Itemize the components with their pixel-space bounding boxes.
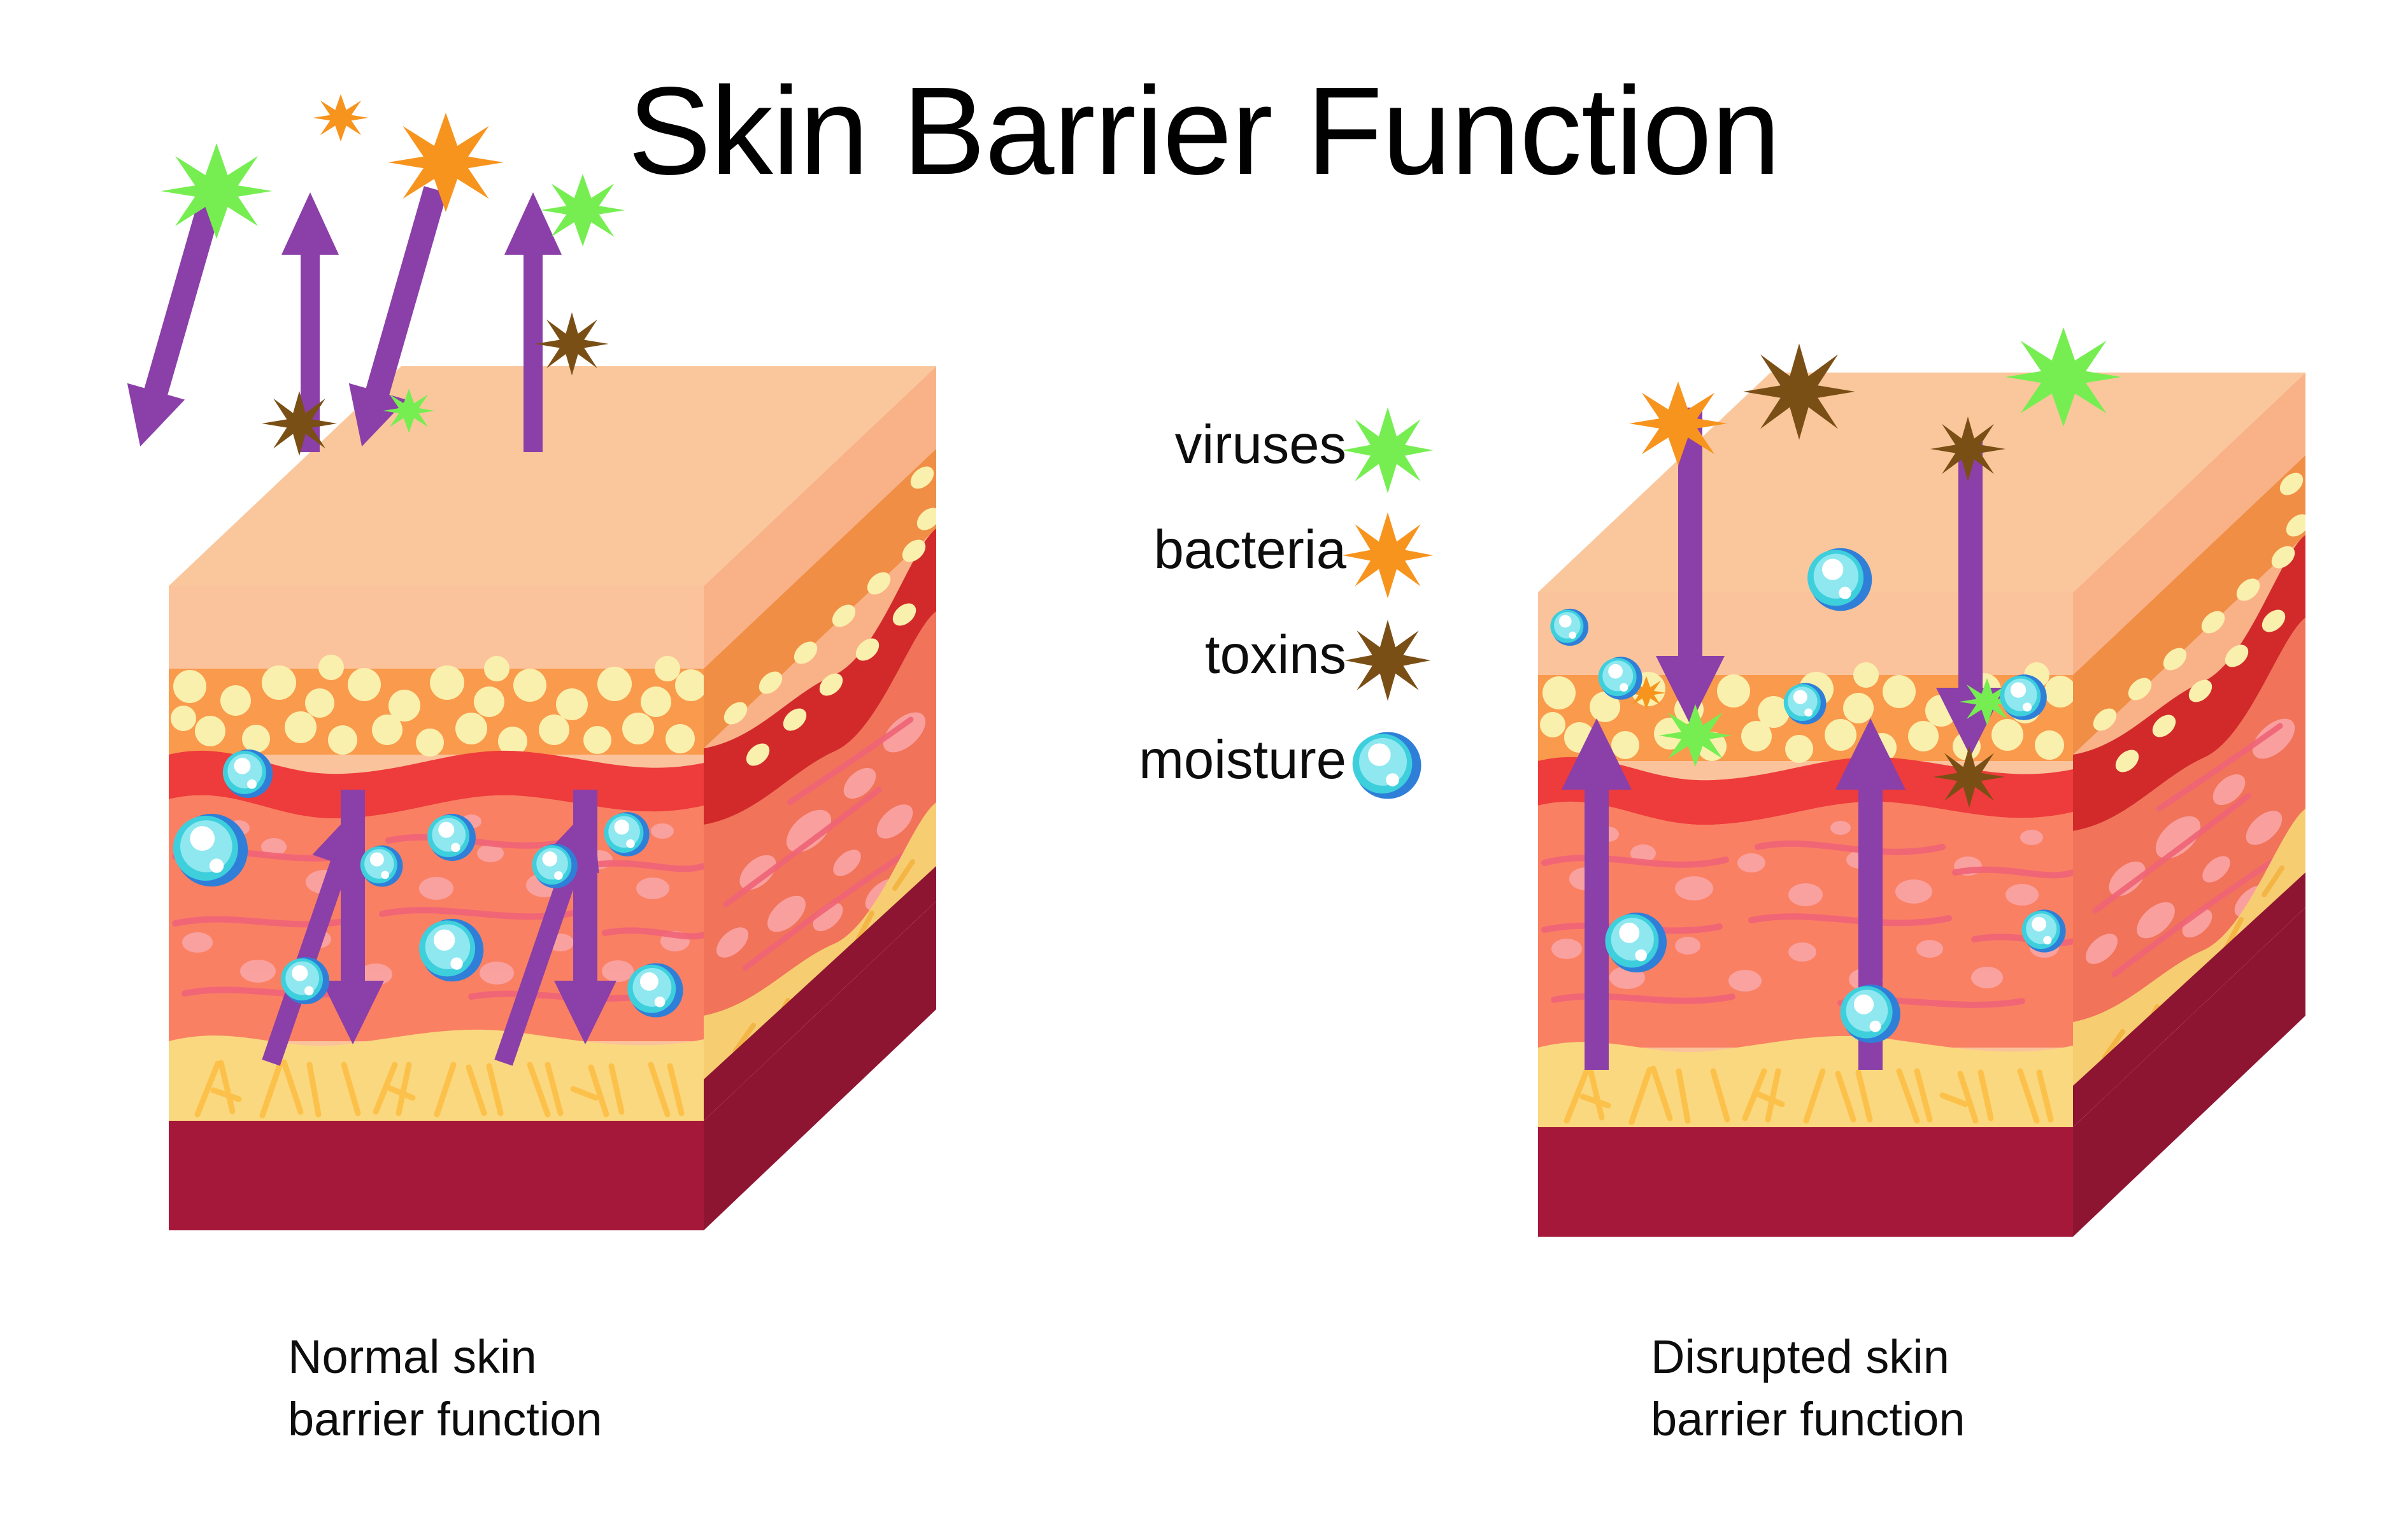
virus-star-icon [1659,704,1732,767]
skin-base-front [1538,1127,2073,1237]
legend-item-viruses: viruses [1022,408,1467,513]
virus-star-icon [541,174,625,246]
toxin-star-icon [535,312,608,375]
toxin-star-icon [1340,613,1436,708]
virus-star-icon [2005,327,2121,427]
virus-star-icon [161,143,273,239]
legend-item-toxins: toxins [1022,618,1467,723]
skin-base-front [169,1121,704,1230]
legend-label-viruses: viruses [1175,408,1346,483]
bacteria-star-icon [388,113,504,212]
legend: viruses bacteria toxins [1022,408,1467,828]
bacteria-star-icon [1340,508,1436,603]
caption-normal-skin: Normal skin barrier function [288,1326,602,1450]
panel-disrupted-skin [1484,459,2388,1305]
bacteria-star-icon [1629,381,1727,466]
arrow-pathogen-blocked-1 [111,181,243,455]
virus-star-icon [383,388,434,433]
diagram-canvas: Skin Barrier Function [0,0,2408,1536]
legend-label-moisture: moisture [1139,723,1346,798]
bacteria-star-icon [313,94,369,141]
moisture-droplet-icon [1340,718,1436,813]
page-title: Skin Barrier Function [0,69,2408,194]
virus-star-icon [1340,402,1436,498]
legend-label-toxins: toxins [1205,618,1346,693]
legend-item-bacteria: bacteria [1022,513,1467,618]
legend-item-moisture: moisture [1022,723,1467,828]
caption-disrupted-skin: Disrupted skin barrier function [1651,1326,1965,1450]
panel-normal-skin [115,229,1019,1299]
legend-label-bacteria: bacteria [1154,513,1346,588]
